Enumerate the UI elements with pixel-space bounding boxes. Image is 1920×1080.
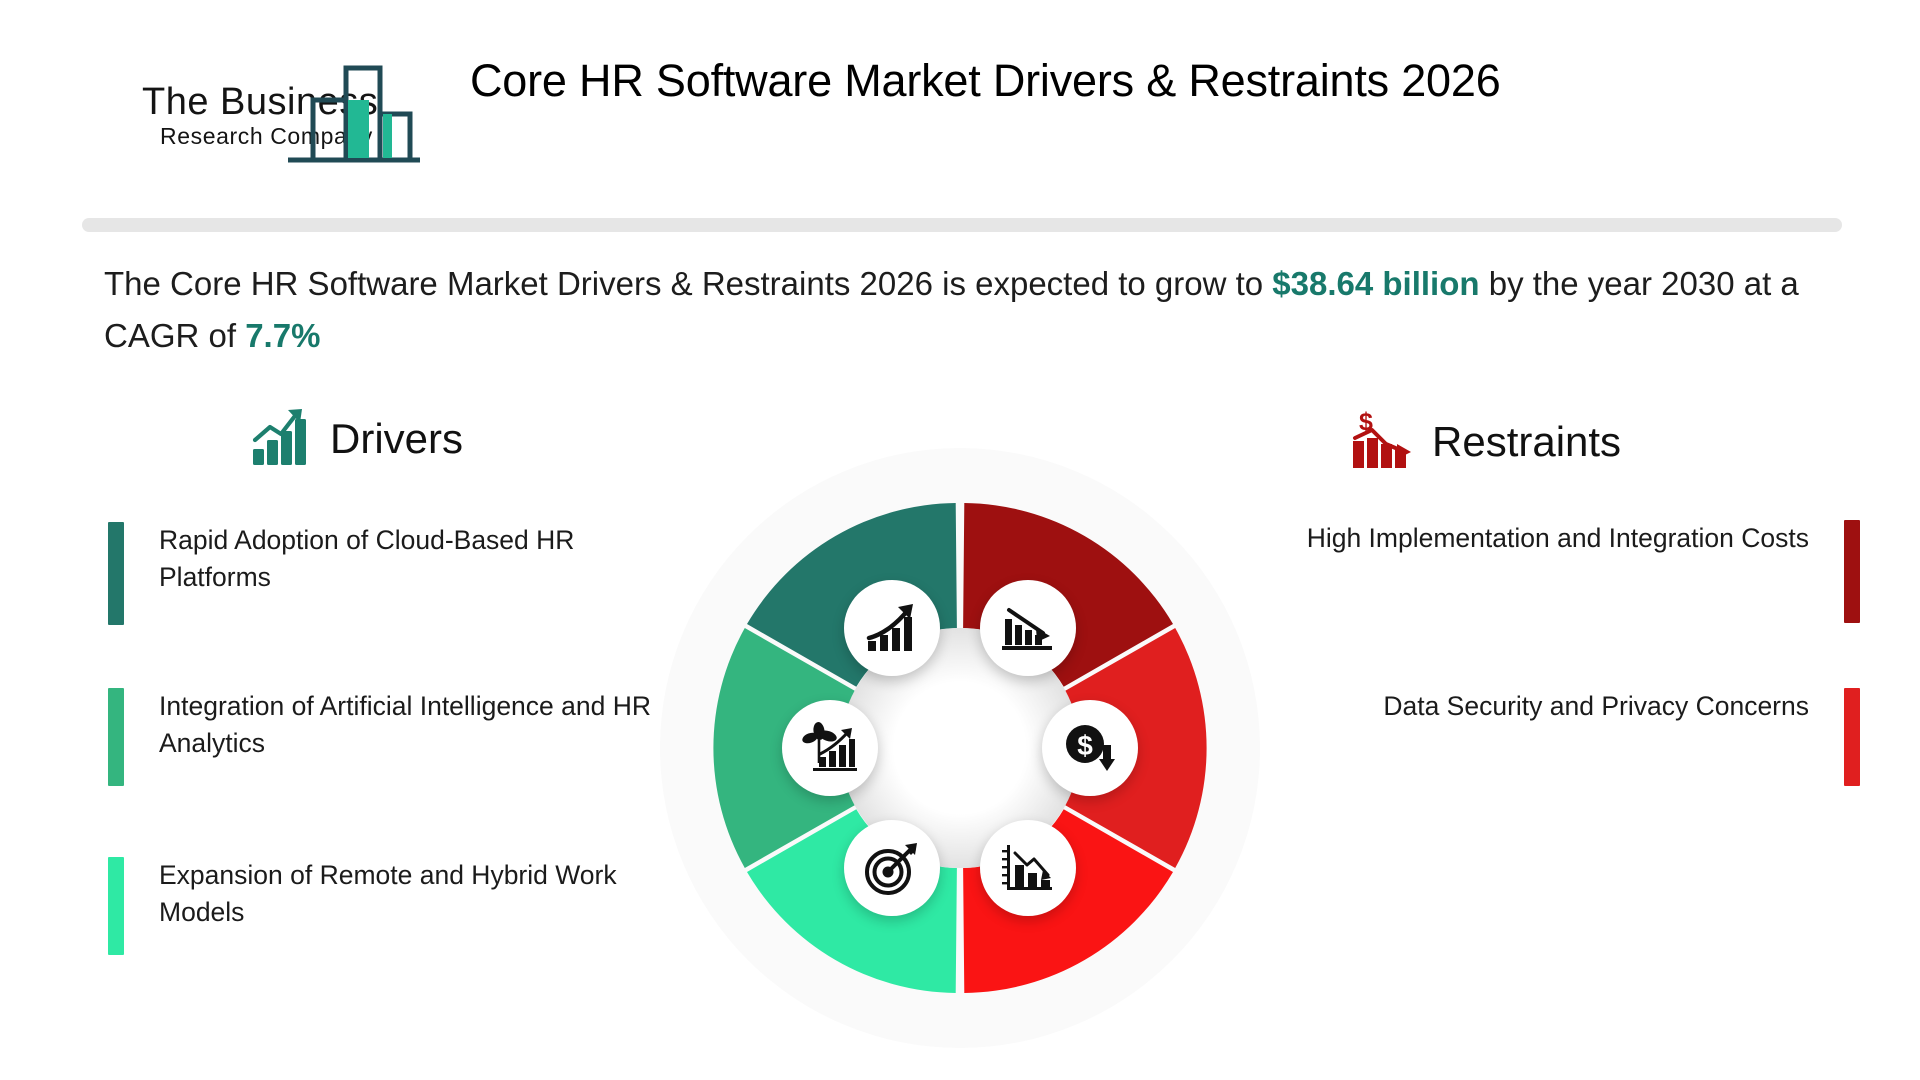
restraint-label: High Implementation and Integration Cost… [1289, 520, 1809, 623]
logo-bar-teal-1 [348, 100, 369, 158]
restraints-heading: Restraints [1432, 421, 1621, 463]
driver-accent-bar [108, 857, 124, 955]
declining-bar-chart-icon [980, 580, 1076, 676]
list-item: High Implementation and Integration Cost… [1289, 520, 1860, 623]
cagr-value: 7.7% [245, 317, 320, 354]
list-item: Integration of Artificial Intelligence a… [108, 688, 659, 786]
market-summary-text: The Core HR Software Market Drivers & Re… [104, 258, 1864, 362]
market-value: $38.64 billion [1272, 265, 1479, 302]
logo-bar-teal-2 [383, 114, 392, 158]
company-logo: The Business Research Company [138, 52, 468, 167]
driver-label: Expansion of Remote and Hybrid Work Mode… [159, 857, 659, 955]
declining-line-chart-icon [980, 820, 1076, 916]
plant-growth-chart-icon [782, 700, 878, 796]
target-arrow-icon [844, 820, 940, 916]
driver-accent-bar [108, 522, 124, 625]
svg-text:$: $ [1077, 730, 1093, 761]
donut-segments [660, 448, 1260, 1048]
logo-line2: Research Company [160, 123, 373, 149]
restraint-accent-bar [1844, 520, 1860, 623]
drivers-restraints-donut-chart: $ [660, 448, 1260, 1048]
list-item: Expansion of Remote and Hybrid Work Mode… [108, 857, 659, 955]
restraints-section-header: $ Restraints [1350, 408, 1621, 475]
restraint-accent-bar [1844, 688, 1860, 786]
list-item: Data Security and Privacy Concerns [1289, 688, 1860, 786]
restraint-label: Data Security and Privacy Concerns [1289, 688, 1809, 786]
bar-chart-logo-icon: The Business Research Company [138, 52, 468, 167]
list-item: Rapid Adoption of Cloud-Based HR Platfor… [108, 522, 659, 625]
page-title: Core HR Software Market Drivers & Restra… [470, 55, 1780, 107]
growth-bar-chart-up-icon [250, 405, 312, 472]
driver-accent-bar [108, 688, 124, 786]
driver-label: Integration of Artificial Intelligence a… [159, 688, 659, 786]
driver-label: Rapid Adoption of Cloud-Based HR Platfor… [159, 522, 659, 625]
infographic-page: The Business Research Company Core HR So… [0, 0, 1920, 1080]
drivers-section-header: Drivers [250, 405, 463, 472]
drivers-heading: Drivers [330, 418, 463, 460]
declining-bar-chart-dollar-icon: $ [1350, 408, 1414, 475]
summary-part1: The Core HR Software Market Drivers & Re… [104, 265, 1272, 302]
growth-chart-up-icon [844, 580, 940, 676]
dollar-down-arrow-icon: $ [1042, 700, 1138, 796]
header-divider [82, 218, 1842, 232]
